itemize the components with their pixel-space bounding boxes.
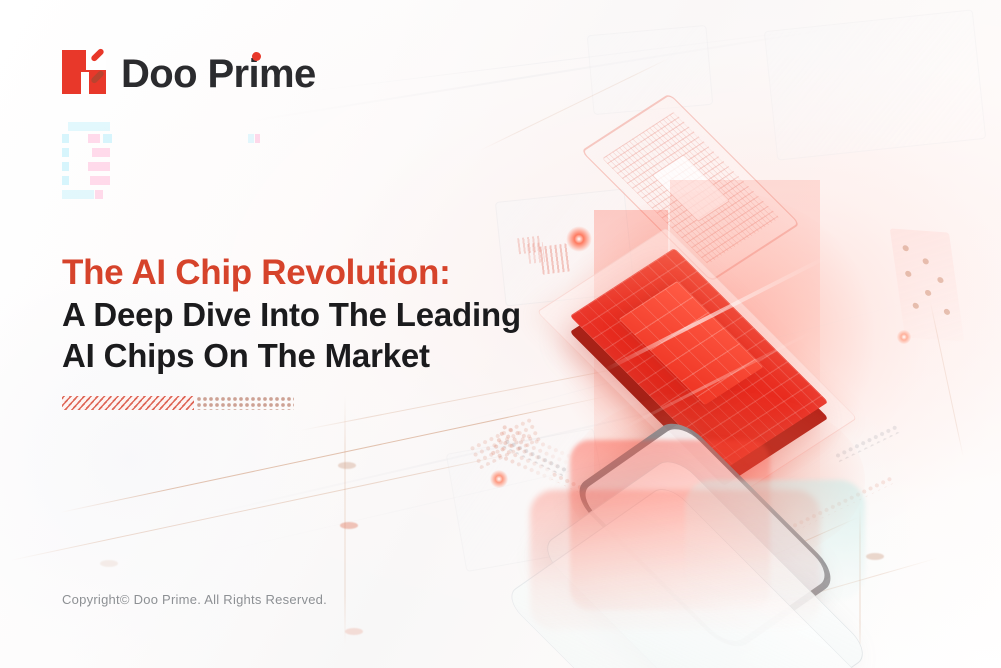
brand-wordmark: Doo Prime [121, 52, 316, 96]
diagonal-hatch-bar [62, 396, 194, 410]
hero-banner: Doo Prime The AI Chip Revolution: A Deep… [0, 0, 1001, 668]
circuit-node [345, 628, 363, 635]
circuit-node [338, 462, 356, 469]
headline-underline-decor [62, 394, 294, 412]
circuit-trace [345, 396, 346, 646]
headline-line-2: A Deep Dive Into The Leading [62, 294, 521, 335]
circuit-trace [10, 452, 519, 561]
logo-accent-dot-icon [252, 52, 261, 61]
circuit-node [100, 560, 118, 567]
brand-wordmark-wrap: Doo Prime [121, 54, 316, 94]
headline-line-3: AI Chips On The Market [62, 335, 521, 376]
headline-block: The AI Chip Revolution: A Deep Dive Into… [62, 252, 521, 376]
ai-chip-illustration [470, 60, 940, 620]
circuit-node [340, 522, 358, 529]
headline-line-accent: The AI Chip Revolution: [62, 252, 521, 294]
chip-base-cool-reflection [685, 480, 865, 600]
doo-prime-logo-icon [62, 50, 106, 98]
dot-grid-fade [196, 396, 294, 410]
brand-logo[interactable]: Doo Prime [62, 50, 316, 98]
copyright-text: Copyright© Doo Prime. All Rights Reserve… [62, 592, 327, 607]
faint-code-block [62, 122, 292, 204]
